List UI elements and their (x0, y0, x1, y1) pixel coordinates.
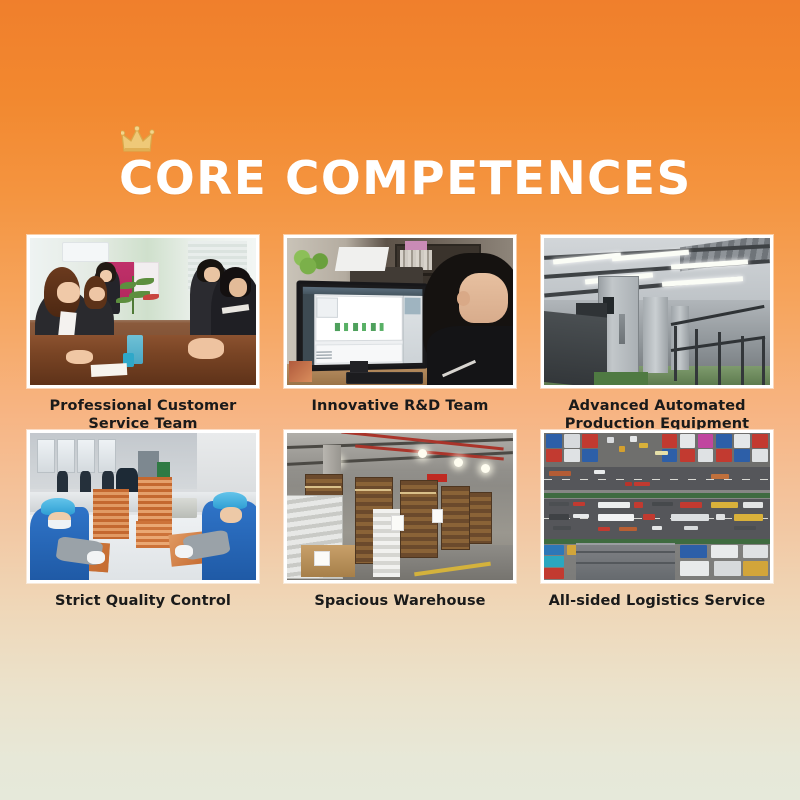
card-caption: All-sided Logistics Service (541, 592, 773, 610)
crown-icon (121, 126, 165, 154)
card-caption: Strict Quality Control (27, 592, 259, 610)
card-caption: Spacious Warehouse (284, 592, 516, 610)
competence-grid-row-1: Professional Customer Service Team (27, 235, 773, 433)
photo-rd-designer-at-monitor (284, 235, 516, 388)
card-all-sided-logistics-service[interactable]: All-sided Logistics Service (541, 430, 773, 610)
page-title: CORE COMPETENCES (119, 152, 692, 204)
card-innovative-rd-team[interactable]: Innovative R&D Team (284, 235, 516, 433)
photo-printing-press-line (541, 235, 773, 388)
card-caption: Advanced Automated Production Equipment (541, 397, 773, 433)
competence-grid-row-2: Strict Quality Control (27, 430, 773, 610)
card-caption: Professional Customer Service Team (27, 397, 259, 433)
core-competences-banner: CORE COMPETENCES (0, 0, 800, 800)
card-strict-quality-control[interactable]: Strict Quality Control (27, 430, 259, 610)
photo-customer-service-meeting (27, 235, 259, 388)
card-caption: Innovative R&D Team (284, 397, 516, 415)
card-advanced-automated-production-equipment[interactable]: Advanced Automated Production Equipment (541, 235, 773, 433)
photo-warehouse-pallets (284, 430, 516, 583)
photo-logistics-aerial-yard (541, 430, 773, 583)
card-professional-customer-service-team[interactable]: Professional Customer Service Team (27, 235, 259, 433)
card-spacious-warehouse[interactable]: Spacious Warehouse (284, 430, 516, 610)
page-title-block: CORE COMPETENCES (0, 152, 800, 204)
photo-quality-control-inspection (27, 430, 259, 583)
